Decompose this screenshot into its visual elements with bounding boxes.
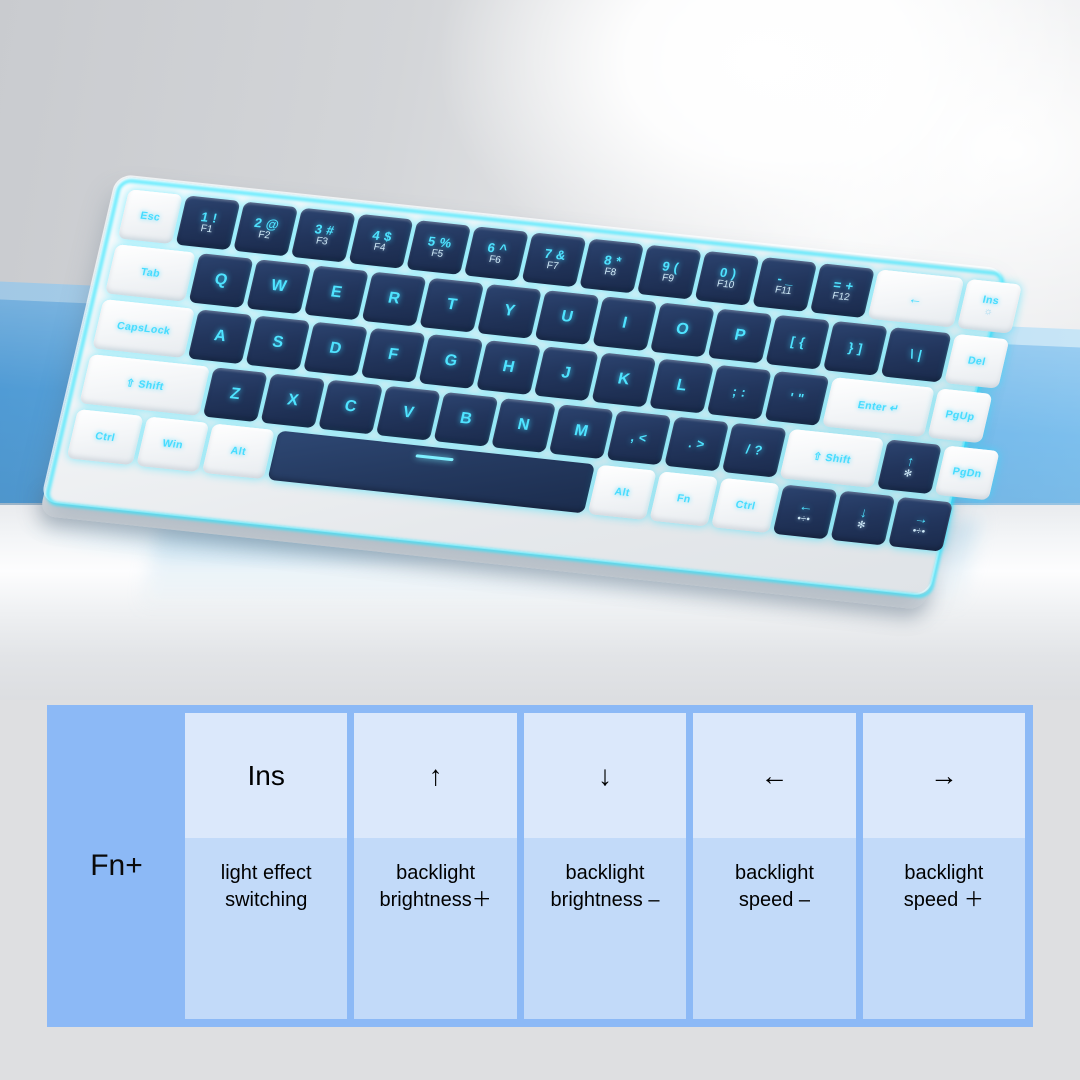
legend-column-list: Inslight effectswitching↑backlightbright… [185, 706, 1032, 1026]
keycap-primary-legend: ↑ [905, 454, 916, 469]
key-t[interactable]: T [419, 278, 484, 333]
key-ctrl[interactable]: Ctrl [711, 478, 780, 533]
keycap-secondary-legend: F10 [716, 279, 735, 291]
key-shift[interactable]: ⇧ Shift [79, 354, 210, 416]
keycap-primary-legend: PgDn [951, 466, 982, 480]
legend-column-4: →backlightspeed ＋ [863, 713, 1025, 1019]
key-b[interactable]: B [433, 392, 498, 447]
keycap-primary-legend: V [401, 405, 416, 422]
keycap-secondary-legend: F2 [257, 230, 271, 241]
key-2[interactable]: 2 @F2 [233, 202, 298, 257]
key-alt[interactable]: Alt [588, 465, 657, 520]
key-0[interactable]: 0 )F10 [694, 251, 759, 306]
key-3[interactable]: 3 #F3 [291, 208, 356, 263]
keycap-primary-legend: ; : [731, 385, 747, 399]
keycap-primary-legend: ⇧ Shift [812, 451, 852, 466]
legend-description: backlightspeed – [693, 838, 855, 1019]
legend-description: backlightspeed ＋ [863, 838, 1025, 1019]
key-h[interactable]: H [476, 340, 541, 395]
keycap-primary-legend: L [675, 378, 689, 395]
key-g[interactable]: G [418, 334, 483, 389]
key-u[interactable]: U [535, 290, 600, 345]
key-n[interactable]: N [491, 398, 556, 453]
key-key[interactable]: ; : [707, 365, 772, 420]
keycap-primary-legend: P [733, 327, 748, 344]
key-1[interactable]: 1 !F1 [175, 195, 240, 250]
key-key[interactable]: →•÷• [888, 497, 953, 552]
legend-column-1: ↑backlightbrightness＋ [354, 713, 516, 1019]
keycap-secondary-legend: F3 [315, 237, 329, 248]
key-key[interactable]: - _F11 [752, 257, 817, 312]
key-5[interactable]: 5 %F5 [406, 220, 471, 275]
keycap-primary-legend: M [573, 423, 590, 440]
key-key[interactable]: [ { [765, 315, 830, 370]
keycap-primary-legend: ' " [788, 391, 805, 405]
key-6[interactable]: 6 ^F6 [464, 226, 529, 281]
key-r[interactable]: R [362, 272, 427, 327]
key-m[interactable]: M [549, 404, 614, 459]
key-y[interactable]: Y [477, 284, 542, 339]
keycap-secondary-legend: ✻ [856, 520, 867, 531]
key-i[interactable]: I [592, 296, 657, 351]
keycap-primary-legend: \ | [909, 348, 924, 362]
key-e[interactable]: E [304, 265, 369, 320]
keycap-secondary-legend: F12 [831, 292, 850, 304]
key-key[interactable]: ↑✻ [877, 439, 942, 494]
keycap-primary-legend: O [674, 321, 691, 338]
keycap-primary-legend: Del [967, 355, 987, 367]
keycap-primary-legend: ← [798, 499, 816, 515]
keycap-secondary-legend: F9 [661, 274, 675, 285]
keycap-secondary-legend: ✻ [902, 469, 913, 480]
key-4[interactable]: 4 $F4 [348, 214, 413, 269]
key-key[interactable]: ←•÷• [773, 485, 838, 540]
keycap-primary-legend: F [386, 347, 400, 364]
keycap-secondary-legend: •÷• [911, 526, 926, 537]
keycap-primary-legend: PgUp [944, 409, 975, 423]
keyboard-photo-scene: Esc1 !F12 @F23 #F34 $F45 %F56 ^F67 &F78 … [0, 0, 1080, 700]
keycap-primary-legend: Esc [139, 210, 161, 223]
keycap-primary-legend: Y [502, 303, 517, 320]
legend-column-2: ↓backlightbrightness – [524, 713, 686, 1019]
key-key[interactable]: , < [606, 410, 671, 465]
legend-description: backlightbrightness – [524, 838, 686, 1019]
legend-column-3: ←backlightspeed – [693, 713, 855, 1019]
keycap-secondary-legend: F4 [372, 243, 386, 254]
keycap-primary-legend: W [269, 278, 288, 296]
keycap-primary-legend: ⇧ Shift [125, 378, 165, 393]
key-key[interactable]: ↓✻ [830, 491, 895, 546]
keycap-primary-legend: , < [629, 430, 648, 445]
key-ins[interactable]: Ins☼ [957, 279, 1022, 334]
key-s[interactable]: S [245, 316, 310, 371]
key-j[interactable]: J [534, 346, 599, 401]
key-key[interactable]: ← [867, 269, 964, 327]
keycap-primary-legend: } ] [847, 341, 864, 356]
keycap-primary-legend: → [913, 511, 931, 527]
key-o[interactable]: O [650, 302, 715, 357]
keycap-primary-legend: . > [687, 437, 706, 452]
key-f[interactable]: F [361, 328, 426, 383]
keycap-primary-legend: Q [213, 272, 230, 289]
key-enter[interactable]: Enter ↵ [822, 377, 935, 437]
keycap-secondary-legend: F7 [545, 261, 559, 272]
keycap-secondary-legend: F5 [430, 249, 444, 260]
key-pgdn[interactable]: PgDn [935, 446, 1000, 501]
key-c[interactable]: C [318, 380, 383, 435]
keycap-secondary-legend: F11 [774, 286, 793, 298]
product-photo-page: Esc1 !F12 @F23 #F34 $F45 %F56 ^F67 &F78 … [0, 0, 1080, 1080]
keycap-primary-legend: J [560, 365, 573, 382]
keycap-primary-legend: Fn [676, 493, 692, 505]
keycap-primary-legend: Enter ↵ [857, 400, 901, 415]
key-pgup[interactable]: PgUp [927, 388, 992, 443]
keycap-primary-legend: Z [228, 386, 242, 403]
key-w[interactable]: W [246, 259, 311, 314]
spacebar-indicator-icon [415, 454, 453, 460]
key-p[interactable]: P [708, 309, 773, 364]
keycap-primary-legend: R [386, 290, 402, 307]
key-alt[interactable]: Alt [202, 424, 275, 480]
keycap-primary-legend: Alt [230, 445, 248, 457]
keycap-primary-legend: Tab [140, 267, 161, 280]
key-capslock[interactable]: CapsLock [92, 299, 195, 358]
legend-key-label: → [863, 713, 1025, 838]
keycap-primary-legend: B [458, 411, 474, 428]
keycap-primary-legend: T [445, 297, 459, 314]
fn-prefix-label: Fn+ [90, 849, 143, 883]
key-esc[interactable]: Esc [118, 189, 183, 244]
legend-column-0: Inslight effectswitching [185, 713, 347, 1019]
key-shift[interactable]: ⇧ Shift [779, 429, 884, 488]
key-key[interactable]: \ | [881, 327, 952, 382]
keycap-primary-legend: X [286, 392, 301, 409]
keycap-primary-legend: CapsLock [116, 320, 172, 336]
legend-description: backlightbrightness＋ [354, 838, 516, 1019]
keycap-primary-legend: N [516, 417, 532, 434]
key-8[interactable]: 8 *F8 [579, 239, 644, 294]
fn-prefix-cell: Fn+ [48, 706, 185, 1026]
keycap-primary-legend: E [329, 284, 344, 301]
key-a[interactable]: A [188, 309, 253, 364]
keycap-primary-legend: U [559, 309, 575, 326]
key-del[interactable]: Del [944, 334, 1009, 389]
key-key[interactable]: . > [664, 417, 729, 472]
key-fn[interactable]: Fn [649, 471, 718, 526]
key-d[interactable]: D [303, 322, 368, 377]
key-win[interactable]: Win [136, 417, 209, 473]
keycap-primary-legend: K [616, 371, 632, 388]
legend-description: light effectswitching [185, 838, 347, 1019]
keycap-primary-legend: Ctrl [734, 499, 756, 512]
key-key[interactable]: = +F12 [810, 263, 875, 318]
legend-key-label: ↓ [524, 713, 686, 838]
keycap-primary-legend: 5 % [427, 234, 454, 250]
keycap-primary-legend: ↓ [859, 505, 870, 520]
key-key[interactable]: ' " [764, 371, 829, 426]
keycap-primary-legend: I [620, 315, 629, 332]
keycap-primary-legend: [ { [789, 335, 806, 350]
keycap-primary-legend: A [212, 328, 228, 345]
keycap-primary-legend: 2 @ [253, 216, 281, 232]
key-v[interactable]: V [376, 386, 441, 441]
keycap-primary-legend: G [443, 353, 460, 370]
key-key[interactable]: } ] [823, 321, 888, 376]
keycap-secondary-legend: ☼ [982, 307, 993, 318]
key-7[interactable]: 7 &F7 [521, 232, 586, 287]
keycap-primary-legend: D [328, 340, 344, 357]
key-x[interactable]: X [260, 373, 325, 428]
keycap-primary-legend: Win [161, 438, 184, 451]
key-tab[interactable]: Tab [105, 244, 196, 302]
keycap-primary-legend: ← [907, 291, 925, 307]
keycap-primary-legend: Alt [613, 486, 631, 498]
keycap-primary-legend: / ? [745, 443, 764, 458]
keycap-secondary-legend: F8 [603, 267, 617, 278]
keycap-primary-legend: H [501, 359, 517, 376]
keycap-primary-legend: Ctrl [94, 431, 116, 444]
keycap-secondary-legend: F6 [488, 255, 502, 266]
key-l[interactable]: L [649, 359, 714, 414]
key-q[interactable]: Q [188, 253, 253, 308]
fn-shortcut-legend: Fn+ Inslight effectswitching↑backlightbr… [48, 706, 1032, 1026]
legend-key-label: ↑ [354, 713, 516, 838]
keycap-secondary-legend: •÷• [796, 514, 811, 525]
legend-key-label: ← [693, 713, 855, 838]
key-z[interactable]: Z [203, 367, 268, 422]
keycap-secondary-legend: F1 [199, 224, 213, 235]
key-key[interactable]: / ? [722, 423, 787, 478]
keycap-primary-legend: C [343, 398, 359, 415]
key-ctrl[interactable]: Ctrl [67, 409, 144, 465]
key-9[interactable]: 9 (F9 [637, 245, 702, 300]
keycap-primary-legend: S [270, 334, 285, 351]
legend-key-label: Ins [185, 713, 347, 838]
key-k[interactable]: K [591, 353, 656, 408]
